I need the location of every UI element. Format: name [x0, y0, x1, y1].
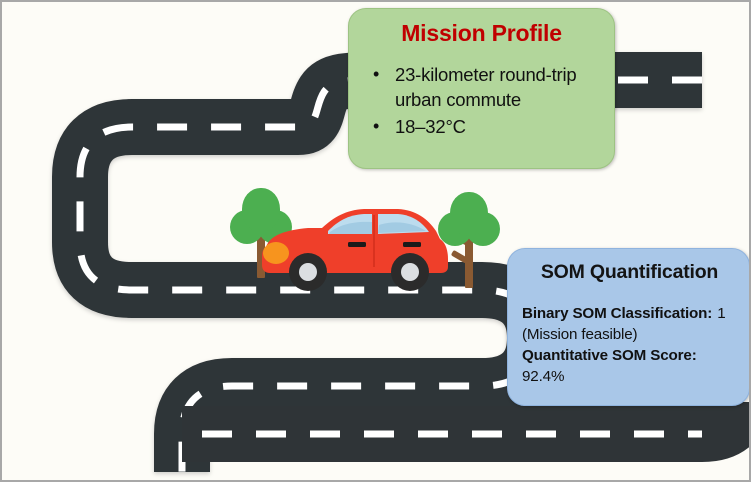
som-quantification-title: SOM Quantification — [522, 259, 737, 285]
som-binary-classification-line: Binary SOM Classification:1 — [522, 303, 737, 324]
red-hatchback-car — [260, 201, 450, 293]
mission-profile-bullet-text: 23-kilometer round-trip urban commute — [395, 64, 577, 110]
som-quantification-callout: SOM Quantification Binary SOM Classifica… — [507, 248, 750, 406]
car-wheel-front-hub — [299, 263, 317, 281]
mission-profile-bullet-list: • 23-kilometer round-trip urban commute … — [359, 62, 604, 139]
car-door-handle-rear — [403, 242, 421, 247]
car-door-seam — [373, 215, 375, 267]
som-feasibility-note: (Mission feasible) — [522, 324, 737, 345]
car-door-handle-front — [348, 242, 366, 247]
car-wheel-rear-hub — [401, 263, 419, 281]
illustration-canvas: Mission Profile • 23-kilometer round-tri… — [0, 0, 751, 482]
som-score-value: 92.4% — [522, 366, 737, 387]
som-binary-classification-value: 1 — [717, 305, 725, 322]
bullet-glyph-icon: • — [373, 114, 379, 139]
mission-profile-title: Mission Profile — [359, 18, 604, 48]
som-quantification-body: Binary SOM Classification:1 (Mission fea… — [522, 303, 737, 387]
mission-profile-bullet-item: • 18–32°C — [359, 114, 604, 139]
mission-profile-bullet-item: • 23-kilometer round-trip urban commute — [359, 62, 604, 112]
som-score-label: Quantitative SOM Score: — [522, 345, 737, 366]
mission-profile-bullet-text: 18–32°C — [395, 116, 466, 137]
bullet-glyph-icon: • — [373, 62, 379, 87]
tree-right-canopy-top — [450, 192, 488, 236]
car-headlight — [263, 242, 289, 264]
som-binary-classification-label: Binary SOM Classification: — [522, 305, 712, 322]
mission-profile-callout: Mission Profile • 23-kilometer round-tri… — [348, 8, 615, 169]
